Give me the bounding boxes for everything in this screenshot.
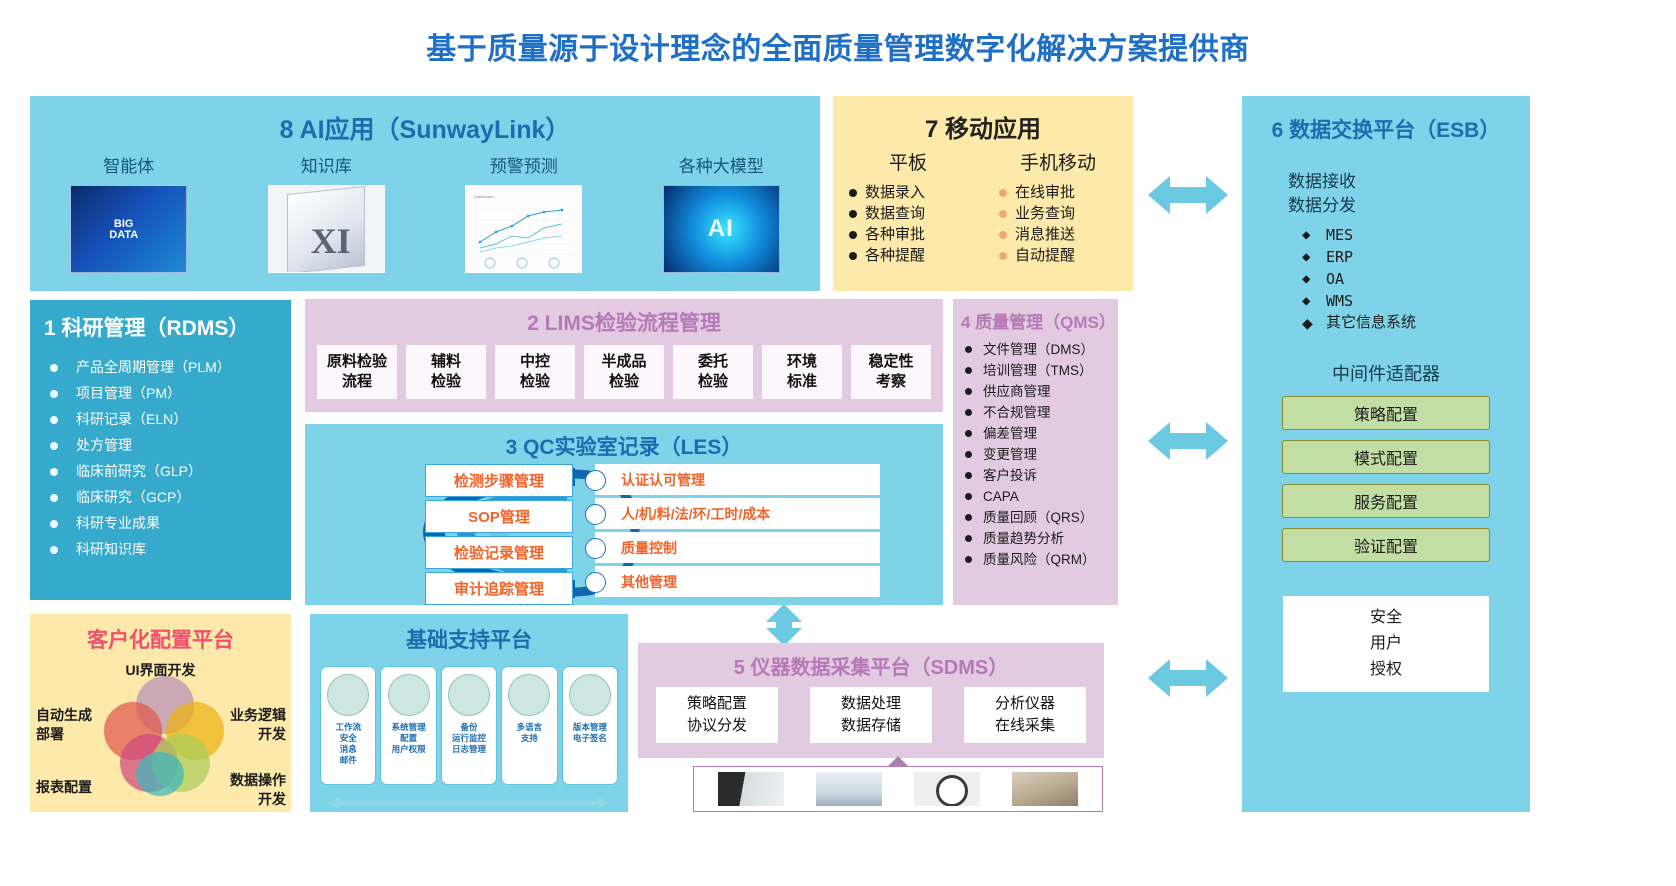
list-item[interactable]: 各种审批 — [849, 224, 983, 245]
infrastructure-panel: 基础支持平台 工作流 安全 消息 邮件 系统管理 配置 用户权限 — [310, 614, 628, 812]
ai-item-label: 知识库 — [228, 152, 426, 177]
list-item[interactable]: 临床前研究（GLP） — [50, 458, 291, 484]
cell-line: 用户权限 — [392, 744, 426, 755]
ai-panel-title: 8 AI应用（SunwayLink） — [30, 110, 820, 146]
instrument-photo-1-image — [718, 772, 784, 806]
esb-systems-list: MES ERP OA WMS 其它信息系统 — [1242, 224, 1530, 334]
les-panel: 3 QC实验室记录（LES） 检测步骤管理 SOP管理 检验记录管理 审计追踪管… — [305, 424, 943, 605]
mobile-column-phone: 手机移动 在线审批 业务查询 消息推送 自动提醒 — [983, 148, 1133, 266]
list-item[interactable]: 项目管理（PM） — [50, 380, 291, 406]
cell-line: 检验 — [520, 372, 550, 392]
sdms-cell-data-processing[interactable]: 数据处理 数据存储 — [810, 687, 932, 743]
ai-item-knowledge-base[interactable]: 知识库 — [228, 152, 426, 273]
infra-cell-version-management[interactable]: 版本管理 电子签名 — [562, 666, 618, 785]
list-item[interactable]: 培训管理（TMS） — [963, 360, 1118, 381]
list-item[interactable]: 科研专业成果 — [50, 510, 291, 536]
cust-panel-title: 客户化配置平台 — [30, 624, 291, 654]
cell-line: 考察 — [876, 372, 906, 392]
list-item[interactable]: 科研记录（ELN） — [50, 406, 291, 432]
list-item[interactable]: 其它信息系统 — [1302, 312, 1530, 334]
double-arrow-horizontal-icon — [1148, 172, 1228, 223]
lims-panel: 2 LIMS检验流程管理 原料检验 流程 辅料 检验 中控 检验 半成品 检验 … — [305, 299, 943, 412]
instrument-photo-strip — [693, 766, 1103, 812]
list-item[interactable]: 质量风险（QRM） — [963, 549, 1118, 570]
list-item[interactable]: 科研知识库 — [50, 536, 291, 562]
lims-cell-in-process[interactable]: 中控 检验 — [495, 345, 575, 399]
mobile-phone-list: 在线审批 业务查询 消息推送 自动提醒 — [983, 182, 1133, 266]
authorization-label: 授权 — [1370, 657, 1402, 683]
infra-cell-label: 版本管理 电子签名 — [573, 722, 607, 744]
cell-line: 邮件 — [335, 755, 361, 766]
les-item-5m1e[interactable]: 人/机/料/法/环/工时/成本 — [595, 498, 880, 529]
list-item[interactable]: 偏差管理 — [963, 423, 1118, 444]
list-item[interactable]: 数据查询 — [849, 203, 983, 224]
business-logic-dev-label: 业务逻辑 开发 — [200, 706, 286, 744]
mobile-tablet-list: 数据录入 数据查询 各种审批 各种提醒 — [833, 182, 983, 266]
cell-line: 在线采集 — [995, 715, 1055, 737]
list-item[interactable]: 客户投诉 — [963, 465, 1118, 486]
cell-line: 原料检验 — [327, 352, 387, 372]
policy-config-button[interactable]: 策略配置 — [1282, 396, 1490, 430]
list-item[interactable]: 质量回顾（QRS） — [963, 507, 1118, 528]
circle-icon — [327, 674, 369, 716]
circle-icon — [388, 674, 430, 716]
crystal-reports-xi-image — [268, 185, 385, 273]
data-operation-dev-label: 数据操作 开发 — [190, 771, 286, 809]
rdms-panel-title: 1 科研管理（RDMS） — [30, 312, 305, 342]
cell-line: 检验 — [609, 372, 639, 392]
circle-icon — [508, 674, 550, 716]
lims-panel-title: 2 LIMS检验流程管理 — [305, 307, 943, 337]
cell-line: 中控 — [520, 352, 550, 372]
cell-line: 版本管理 — [573, 722, 607, 733]
mobile-column-tablet: 平板 数据录入 数据查询 各种审批 各种提醒 — [833, 148, 983, 266]
ai-item-large-models[interactable]: 各种大模型 — [623, 152, 821, 273]
infra-cell-system-management[interactable]: 系统管理 配置 用户权限 — [380, 666, 436, 785]
cell-line: 分析仪器 — [995, 693, 1055, 715]
infra-cell-label: 多语言 支持 — [517, 722, 543, 744]
infra-cell-label: 工作流 安全 消息 邮件 — [335, 722, 361, 766]
esb-sub-distribute: 数据分发 — [1288, 194, 1530, 218]
cell-line: 数据处理 — [841, 693, 901, 715]
sdms-cell-policy-config[interactable]: 策略配置 协议分发 — [656, 687, 778, 743]
mobile-columns: 平板 数据录入 数据查询 各种审批 各种提醒 手机移动 在线审批 业务查询 消息… — [833, 148, 1133, 266]
list-item[interactable]: 数据录入 — [849, 182, 983, 203]
list-item[interactable]: 产品全周期管理（PLM） — [50, 354, 291, 380]
customization-platform-panel: 客户化配置平台 UI界面开发 自动生成 部署 业务逻辑 开发 报表配置 数据操作… — [30, 614, 291, 812]
les-right-list: 认证认可管理 人/机/料/法/环/工时/成本 质量控制 其他管理 — [595, 464, 880, 600]
big-data-image — [70, 185, 187, 273]
instrument-photo-2-image — [816, 772, 882, 806]
lims-cell-entrusted[interactable]: 委托 检验 — [673, 345, 753, 399]
les-item-audit-trail[interactable]: 审计追踪管理 — [425, 572, 573, 605]
security-label: 安全 — [1370, 605, 1402, 631]
circle-icon — [448, 674, 490, 716]
service-config-button[interactable]: 服务配置 — [1282, 484, 1490, 518]
infra-cell-label: 备份 运行监控 日志管理 — [452, 722, 486, 755]
sdms-panel-title: 5 仪器数据采集平台（SDMS） — [638, 651, 1104, 680]
validation-config-button[interactable]: 验证配置 — [1282, 528, 1490, 562]
list-item[interactable]: MES — [1302, 224, 1530, 246]
lims-cell-environment[interactable]: 环境 标准 — [762, 345, 842, 399]
les-body: 检测步骤管理 SOP管理 检验记录管理 审计追踪管理 认证认可管理 人/机/料/… — [305, 462, 943, 602]
double-arrow-horizontal-icon — [1148, 418, 1228, 469]
cell-line: 策略配置 — [687, 693, 747, 715]
ai-item-early-warning[interactable]: 预警预测 Dashboard — [425, 152, 623, 273]
cell-line: 标准 — [787, 372, 817, 392]
infra-cell-label: 系统管理 配置 用户权限 — [392, 722, 426, 755]
ai-items-row: 智能体 知识库 预警预测 Dashboard — [30, 152, 820, 273]
dashboard-chart-image: Dashboard — [465, 185, 582, 273]
cell-line: 环境 — [787, 352, 817, 372]
list-item[interactable]: ERP — [1302, 246, 1530, 268]
mode-config-button[interactable]: 模式配置 — [1282, 440, 1490, 474]
sdms-cell-instrument-collection[interactable]: 分析仪器 在线采集 — [964, 687, 1086, 743]
infra-cells-row: 工作流 安全 消息 邮件 系统管理 配置 用户权限 备份 运行监控 — [320, 666, 618, 785]
list-item[interactable]: OA — [1302, 268, 1530, 290]
security-box: 安全 用户 授权 — [1283, 596, 1489, 692]
double-arrow-horizontal-icon — [328, 796, 610, 806]
sdms-cells-row: 策略配置 协议分发 数据处理 数据存储 分析仪器 在线采集 — [656, 687, 1086, 743]
mobile-application-panel: 7 移动应用 平板 数据录入 数据查询 各种审批 各种提醒 手机移动 在线审批 … — [833, 96, 1133, 291]
cell-line: 委托 — [698, 352, 728, 372]
list-item[interactable]: 质量趋势分析 — [963, 528, 1118, 549]
mobile-column-head: 手机移动 — [983, 148, 1133, 175]
qms-items-list: 文件管理（DMS） 培训管理（TMS） 供应商管理 不合规管理 偏差管理 变更管… — [953, 339, 1118, 570]
lims-cell-stability[interactable]: 稳定性 考察 — [851, 345, 931, 399]
page-title: 基于质量源于设计理念的全面质量管理数字化解决方案提供商 — [0, 24, 1676, 68]
lims-cell-excipient[interactable]: 辅料 检验 — [406, 345, 486, 399]
diagram-canvas: 基于质量源于设计理念的全面质量管理数字化解决方案提供商 8 AI应用（Sunwa… — [0, 0, 1676, 886]
les-item-test-records[interactable]: 检验记录管理 — [425, 536, 573, 569]
cell-line: 检验 — [431, 372, 461, 392]
infra-cell-multilanguage[interactable]: 多语言 支持 — [501, 666, 557, 785]
user-label: 用户 — [1370, 631, 1402, 657]
ai-brain-image — [663, 185, 780, 273]
report-config-label: 报表配置 — [36, 778, 92, 797]
cell-line: 协议分发 — [687, 715, 747, 737]
svg-text:Dashboard: Dashboard — [474, 194, 494, 199]
list-item[interactable]: 变更管理 — [963, 444, 1118, 465]
list-item[interactable]: 不合规管理 — [963, 402, 1118, 423]
les-panel-title: 3 QC实验室记录（LES） — [305, 431, 943, 461]
cell-line: 系统管理 — [392, 722, 426, 733]
cell-line: 支持 — [517, 733, 543, 744]
les-item-sop[interactable]: SOP管理 — [425, 500, 573, 533]
esb-panel-title: 6 数据交换平台（ESB） — [1242, 114, 1530, 144]
cell-line: 稳定性 — [868, 352, 913, 372]
list-item[interactable]: 在线审批 — [999, 182, 1133, 203]
ai-item-label: 智能体 — [30, 152, 228, 177]
list-item[interactable]: 各种提醒 — [849, 245, 983, 266]
list-item[interactable]: 业务查询 — [999, 203, 1133, 224]
cell-line: 消息 — [335, 744, 361, 755]
ai-application-panel: 8 AI应用（SunwayLink） 智能体 知识库 预警预测 Dashboar… — [30, 96, 820, 291]
les-left-list: 检测步骤管理 SOP管理 检验记录管理 审计追踪管理 — [425, 464, 573, 608]
esb-panel: 6 数据交换平台（ESB） 数据接收 数据分发 MES ERP OA WMS 其… — [1242, 96, 1530, 812]
les-item-test-steps[interactable]: 检测步骤管理 — [425, 464, 573, 497]
les-item-other[interactable]: 其他管理 — [595, 566, 880, 597]
ai-item-label: 预警预测 — [425, 152, 623, 177]
cell-line: 安全 — [335, 733, 361, 744]
esb-sub-receive: 数据接收 — [1288, 170, 1530, 194]
qms-panel-title: 4 质量管理（QMS） — [953, 308, 1126, 333]
circle-icon — [569, 674, 611, 716]
cell-line: 多语言 — [517, 722, 543, 733]
list-item[interactable]: 处方管理 — [50, 432, 291, 458]
list-item[interactable]: 临床研究（GCP） — [50, 484, 291, 510]
cell-line: 电子签名 — [573, 733, 607, 744]
list-item[interactable]: 文件管理（DMS） — [963, 339, 1118, 360]
list-item[interactable]: 供应商管理 — [963, 381, 1118, 402]
ai-item-label: 各种大模型 — [623, 152, 821, 177]
infra-cell-workflow[interactable]: 工作流 安全 消息 邮件 — [320, 666, 376, 785]
cell-line: 流程 — [342, 372, 372, 392]
cell-line: 日志管理 — [452, 744, 486, 755]
list-item[interactable]: CAPA — [963, 486, 1118, 507]
cell-line: 半成品 — [601, 352, 646, 372]
cell-line: 备份 — [452, 722, 486, 733]
infra-panel-title: 基础支持平台 — [310, 624, 628, 654]
sdms-panel: 5 仪器数据采集平台（SDMS） 策略配置 协议分发 数据处理 数据存储 分析仪… — [638, 643, 1104, 758]
list-item[interactable]: 自动提醒 — [999, 245, 1133, 266]
cell-line: 数据存储 — [841, 715, 901, 737]
double-arrow-horizontal-icon — [1148, 655, 1228, 706]
auto-generate-deploy-label: 自动生成 部署 — [36, 706, 92, 744]
lims-cell-raw-material[interactable]: 原料检验 流程 — [317, 345, 397, 399]
cell-line: 检验 — [698, 372, 728, 392]
cell-line: 运行监控 — [452, 733, 486, 744]
cell-line: 配置 — [392, 733, 426, 744]
gauge-photo-3-image — [914, 772, 980, 806]
qms-panel: 4 质量管理（QMS） 文件管理（DMS） 培训管理（TMS） 供应商管理 不合… — [953, 299, 1118, 605]
cell-line: 辅料 — [431, 352, 461, 372]
lims-cell-semi-finished[interactable]: 半成品 检验 — [584, 345, 664, 399]
middleware-adapter-label: 中间件适配器 — [1242, 360, 1530, 386]
instrument-photo-4-image — [1012, 772, 1078, 806]
les-item-accreditation[interactable]: 认证认可管理 — [595, 464, 880, 495]
ai-item-agent[interactable]: 智能体 — [30, 152, 228, 273]
cell-line: 工作流 — [335, 722, 361, 733]
rdms-items-list: 产品全周期管理（PLM） 项目管理（PM） 科研记录（ELN） 处方管理 临床前… — [30, 354, 291, 562]
mobile-panel-title: 7 移动应用 — [833, 109, 1133, 144]
rdms-panel: 1 科研管理（RDMS） 产品全周期管理（PLM） 项目管理（PM） 科研记录（… — [30, 300, 291, 600]
list-item[interactable]: WMS — [1302, 290, 1530, 312]
mobile-column-head: 平板 — [833, 148, 983, 175]
les-item-quality-control[interactable]: 质量控制 — [595, 532, 880, 563]
list-item[interactable]: 消息推送 — [999, 224, 1133, 245]
lims-cells-row: 原料检验 流程 辅料 检验 中控 检验 半成品 检验 委托 检验 环境 标准 稳… — [317, 345, 931, 399]
infra-cell-backup[interactable]: 备份 运行监控 日志管理 — [441, 666, 497, 785]
